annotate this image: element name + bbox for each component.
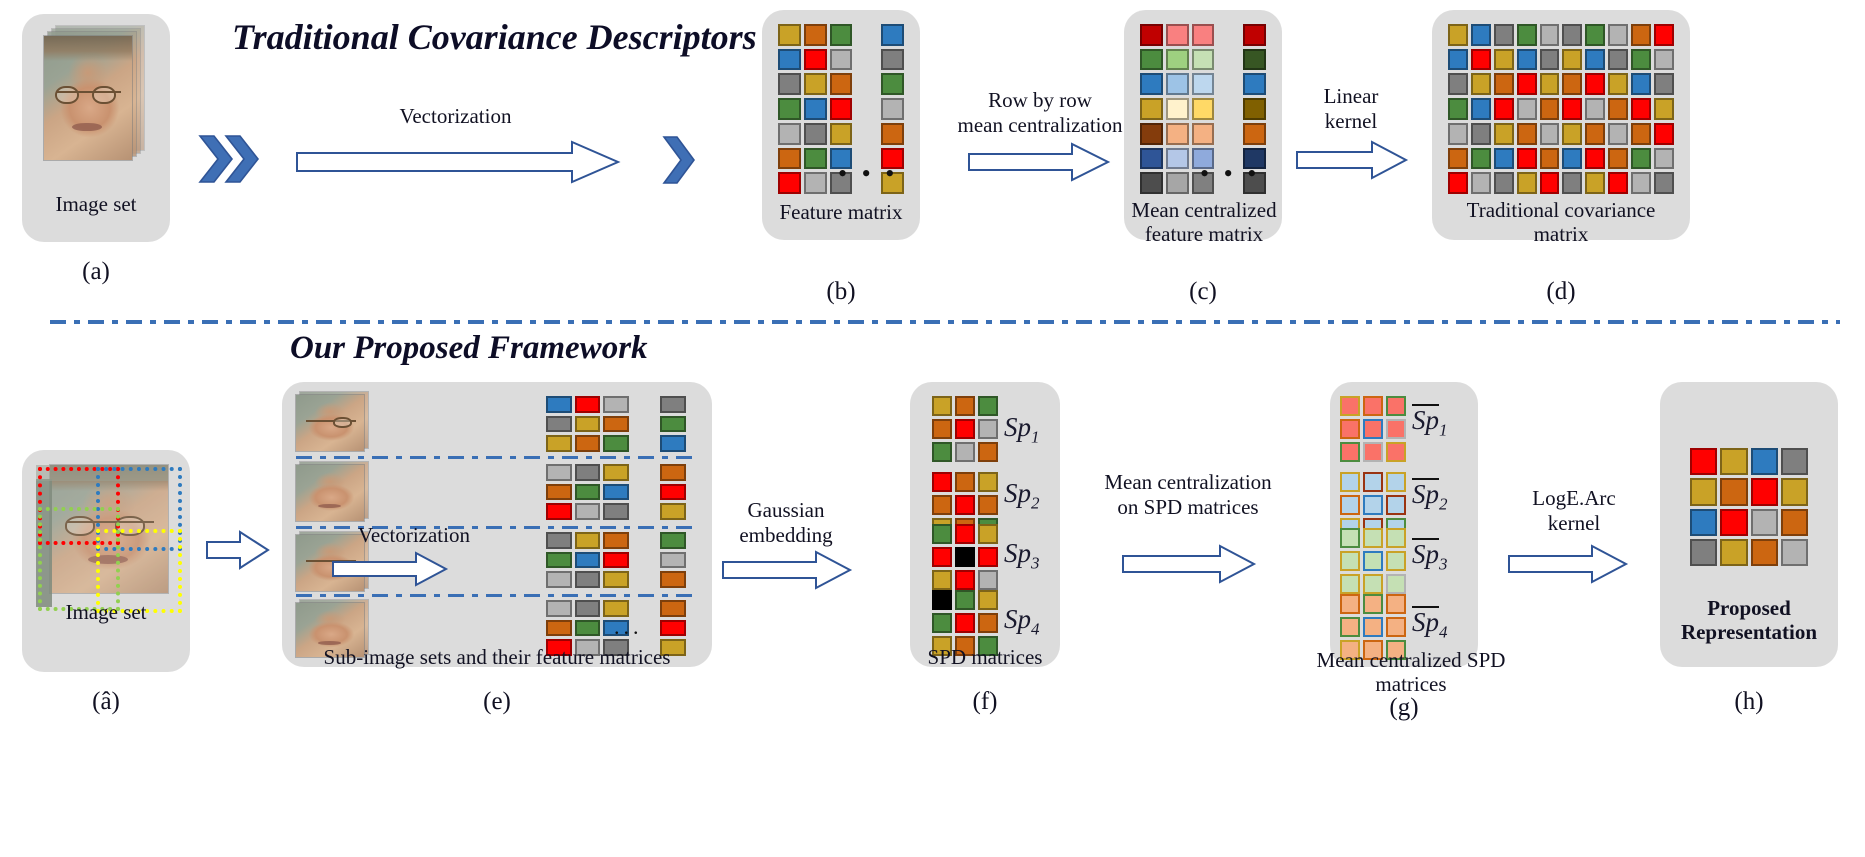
matrix-cell — [1654, 98, 1674, 120]
panel-d-caption-line1: Traditional covariance — [1467, 198, 1656, 222]
panel-a-hat-caption: Image set — [22, 600, 190, 625]
matrix-cell — [955, 524, 975, 544]
matrix-cell — [1494, 123, 1514, 145]
matrix-cell — [1585, 98, 1605, 120]
matrix-cell — [778, 49, 801, 71]
block-arrow-right-centralize — [968, 142, 1110, 182]
spd-label-sub-2: 2 — [1031, 493, 1040, 512]
matrix-cell — [778, 148, 801, 170]
face-image-stack-a — [44, 26, 150, 162]
matrix-cell — [660, 503, 686, 520]
matrix-cell — [1386, 419, 1406, 439]
vectorization-label-bottom: Vectorization — [334, 523, 494, 548]
matrix-cell — [603, 484, 629, 501]
feature-matrix-ellipsis: • • • — [838, 161, 898, 187]
matrix-cell — [932, 590, 952, 610]
matrix-cell — [1517, 49, 1537, 71]
mc-spd-label-sub-2: 2 — [1439, 494, 1448, 513]
matrix-cell — [1140, 49, 1163, 71]
matrix-cell — [1471, 49, 1491, 71]
matrix-cell — [575, 552, 601, 569]
matrix-cell — [1517, 98, 1537, 120]
grid-gap — [632, 552, 658, 569]
matrix-cell — [1140, 148, 1163, 170]
spd-label-sub-3: 3 — [1031, 553, 1040, 572]
matrix-cell — [1448, 98, 1468, 120]
matrix-cell — [1340, 551, 1360, 571]
matrix-cell — [1654, 123, 1674, 145]
matrix-cell — [546, 416, 572, 433]
matrix-cell — [1140, 24, 1163, 46]
panel-a-hat-sublabel: (â) — [22, 688, 190, 716]
matrix-cell — [830, 49, 853, 71]
matrix-cell — [1192, 73, 1215, 95]
matrix-cell — [603, 532, 629, 549]
matrix-cell — [1781, 448, 1808, 475]
matrix-cell — [978, 396, 998, 416]
matrix-cell — [881, 123, 904, 145]
matrix-cell — [1363, 396, 1383, 416]
block-arrow-right-vectorization — [296, 140, 620, 184]
block-arrow-right-gaussian — [722, 550, 852, 590]
matrix-cell — [1690, 448, 1717, 475]
matrix-cell — [1340, 442, 1360, 462]
matrix-cell — [881, 24, 904, 46]
matrix-cell — [1540, 172, 1560, 194]
spd-matrix-4-label: Sp4 — [1004, 604, 1040, 639]
matrix-cell — [1781, 539, 1808, 566]
panel-b-caption: Feature matrix — [755, 200, 927, 225]
top-section-title: Traditional Covariance Descriptors — [232, 16, 757, 58]
matrix-cell — [1140, 123, 1163, 145]
panel-d-caption: Traditional covariance matrix — [1420, 198, 1702, 246]
matrix-cell — [575, 532, 601, 549]
mc-spd-label-text-4: Sp — [1412, 606, 1439, 636]
mean-centralization-spd-line1: Mean centralization — [1104, 470, 1271, 494]
matrix-cell — [603, 571, 629, 588]
matrix-cell — [1363, 442, 1383, 462]
matrix-cell — [932, 495, 952, 515]
matrix-cell — [1585, 172, 1605, 194]
matrix-cell — [1386, 528, 1406, 548]
block-arrow-right-mean-centralization — [1122, 544, 1256, 584]
matrix-cell — [978, 547, 998, 567]
matrix-cell — [932, 613, 952, 633]
matrix-cell — [1363, 528, 1383, 548]
panel-f-sublabel: (f) — [910, 688, 1060, 716]
linear-kernel-line2: kernel — [1325, 109, 1377, 133]
matrix-cell — [1585, 123, 1605, 145]
matrix-cell — [1631, 24, 1651, 46]
matrix-cell — [778, 172, 801, 194]
mc-spd-label-text-2: Sp — [1412, 478, 1439, 508]
matrix-cell — [1494, 73, 1514, 95]
matrix-cell — [955, 613, 975, 633]
loge-arc-line1: LogE.Arc — [1532, 486, 1615, 510]
matrix-cell — [1631, 98, 1651, 120]
panel-c-sublabel: (c) — [1124, 278, 1282, 306]
matrix-cell — [881, 98, 904, 120]
matrix-cell — [1517, 73, 1537, 95]
matrix-cell — [1140, 98, 1163, 120]
matrix-cell — [1494, 49, 1514, 71]
matrix-cell — [1386, 396, 1406, 416]
matrix-cell — [1562, 148, 1582, 170]
spd-label-sub-1: 1 — [1031, 427, 1040, 446]
matrix-cell — [881, 49, 904, 71]
matrix-cell — [660, 435, 686, 452]
panel-d-sublabel: (d) — [1432, 278, 1690, 306]
matrix-cell — [932, 419, 952, 439]
spd-label-sub-4: 4 — [1031, 619, 1040, 638]
vectorization-label-top: Vectorization — [348, 104, 563, 129]
matrix-cell — [1448, 172, 1468, 194]
grid-gap — [632, 396, 658, 413]
block-arrow-right-linear-kernel — [1296, 140, 1408, 180]
grid-gap — [632, 464, 658, 481]
grid-gap — [632, 503, 658, 520]
matrix-cell — [978, 419, 998, 439]
matrix-cell — [1471, 123, 1491, 145]
matrix-cell — [603, 503, 629, 520]
matrix-cell — [1471, 24, 1491, 46]
matrix-cell — [955, 547, 975, 567]
matrix-cell — [1690, 509, 1717, 536]
linear-kernel-label: Linear kernel — [1292, 84, 1410, 134]
matrix-cell — [1631, 73, 1651, 95]
matrix-cell — [660, 571, 686, 588]
spd-matrix-1-label: Sp1 — [1004, 412, 1040, 447]
matrix-cell — [1562, 172, 1582, 194]
matrix-cell — [660, 532, 686, 549]
matrix-cell — [1386, 574, 1406, 594]
matrix-cell — [1340, 495, 1360, 515]
matrix-cell — [1386, 442, 1406, 462]
matrix-cell — [1585, 24, 1605, 46]
matrix-cell — [932, 396, 952, 416]
panel-a-sublabel: (a) — [22, 258, 170, 286]
matrix-cell — [804, 49, 827, 71]
block-arrow-right-to-e — [206, 530, 270, 570]
matrix-cell — [1720, 509, 1747, 536]
matrix-cell — [1540, 98, 1560, 120]
matrix-cell — [546, 435, 572, 452]
matrix-cell — [1471, 73, 1491, 95]
spd-matrix-1 — [932, 396, 998, 462]
panel-g-caption: Mean centralized SPD matrices — [1286, 648, 1536, 696]
matrix-cell — [546, 464, 572, 481]
matrix-cell — [1192, 24, 1215, 46]
panel-b-sublabel: (b) — [762, 278, 920, 306]
matrix-cell — [575, 571, 601, 588]
matrix-cell — [1654, 49, 1674, 71]
matrix-cell — [1608, 24, 1628, 46]
mean-centralized-spd-matrix-1 — [1340, 396, 1406, 462]
matrix-cell — [1448, 73, 1468, 95]
matrix-cell — [1540, 73, 1560, 95]
matrix-cell — [546, 571, 572, 588]
grid-gap — [855, 98, 878, 120]
proposed-representation-grid — [1690, 448, 1808, 566]
matrix-cell — [1386, 617, 1406, 637]
matrix-cell — [955, 590, 975, 610]
matrix-cell — [1340, 472, 1360, 492]
panel-h-caption-line2: Representation — [1681, 620, 1817, 644]
grid-gap — [1217, 73, 1240, 95]
matrix-cell — [1517, 123, 1537, 145]
matrix-cell — [1654, 73, 1674, 95]
gaussian-embedding-line1: Gaussian — [748, 498, 825, 522]
matrix-cell — [1340, 419, 1360, 439]
gaussian-embedding-line2: embedding — [739, 523, 832, 547]
matrix-cell — [1340, 574, 1360, 594]
single-chevron-right-icon — [662, 134, 696, 186]
matrix-cell — [660, 396, 686, 413]
matrix-cell — [1363, 617, 1383, 637]
matrix-cell — [1631, 49, 1651, 71]
matrix-cell — [1720, 448, 1747, 475]
panel-g-sublabel: (g) — [1330, 694, 1478, 722]
panel-c-caption: Mean centralized feature matrix — [1108, 198, 1300, 246]
double-chevron-right-icon — [198, 132, 260, 186]
matrix-cell — [575, 435, 601, 452]
block-arrow-right-loge — [1508, 544, 1628, 584]
grid-gap — [1217, 24, 1240, 46]
panel-c-caption-line2: feature matrix — [1145, 222, 1263, 246]
matrix-cell — [1494, 98, 1514, 120]
matrix-cell — [778, 123, 801, 145]
traditional-covariance-matrix-grid — [1448, 24, 1674, 194]
matrix-cell — [1540, 123, 1560, 145]
matrix-cell — [932, 524, 952, 544]
panel-e-ellipsis: ... — [614, 616, 643, 638]
matrix-cell — [1654, 172, 1674, 194]
spd-label-text-4: Sp — [1004, 604, 1031, 634]
matrix-cell — [1243, 123, 1266, 145]
matrix-cell — [1751, 448, 1778, 475]
matrix-cell — [978, 524, 998, 544]
panel-e-sublabel: (e) — [282, 688, 712, 716]
panel-e-caption: Sub-image sets and their feature matrice… — [282, 645, 712, 670]
matrix-cell — [1166, 148, 1189, 170]
panel-h-caption: Proposed Representation — [1660, 596, 1838, 644]
loge-arc-kernel-label: LogE.Arc kernel — [1508, 486, 1640, 536]
matrix-cell — [1166, 172, 1189, 194]
matrix-cell — [660, 464, 686, 481]
matrix-cell — [1585, 73, 1605, 95]
matrix-cell — [660, 416, 686, 433]
matrix-cell — [575, 464, 601, 481]
matrix-cell — [1690, 539, 1717, 566]
matrix-cell — [1690, 478, 1717, 505]
matrix-cell — [575, 503, 601, 520]
grid-gap — [1217, 98, 1240, 120]
matrix-cell — [1608, 73, 1628, 95]
block-arrow-right-vectorization-bottom — [332, 552, 448, 586]
grid-gap — [632, 532, 658, 549]
matrix-cell — [1494, 24, 1514, 46]
spd-matrix-3-label: Sp3 — [1004, 538, 1040, 573]
matrix-cell — [1363, 594, 1383, 614]
grid-gap — [855, 123, 878, 145]
matrix-cell — [603, 464, 629, 481]
matrix-cell — [881, 73, 904, 95]
mc-spd-label-text-3: Sp — [1412, 538, 1439, 568]
matrix-cell — [955, 570, 975, 590]
matrix-cell — [978, 442, 998, 462]
panel-a-caption: Image set — [22, 192, 170, 217]
matrix-cell — [955, 396, 975, 416]
matrix-cell — [575, 484, 601, 501]
row-mean-centralization-label: Row by row mean centralization — [932, 88, 1148, 138]
matrix-cell — [1608, 123, 1628, 145]
matrix-cell — [546, 600, 572, 617]
matrix-cell — [1340, 594, 1360, 614]
spd-label-text-2: Sp — [1004, 478, 1031, 508]
matrix-cell — [1166, 24, 1189, 46]
grid-gap — [855, 73, 878, 95]
sub-image-thumb-1 — [296, 392, 372, 452]
matrix-cell — [1192, 98, 1215, 120]
matrix-cell — [978, 495, 998, 515]
matrix-cell — [978, 613, 998, 633]
panel-e-separator-1 — [296, 456, 696, 459]
matrix-cell — [546, 484, 572, 501]
matrix-cell — [660, 484, 686, 501]
matrix-cell — [804, 123, 827, 145]
grid-gap — [632, 416, 658, 433]
matrix-cell — [546, 620, 572, 637]
mc-spd-label-sub-1: 1 — [1439, 420, 1448, 439]
matrix-cell — [1340, 396, 1360, 416]
grid-gap — [632, 484, 658, 501]
matrix-cell — [978, 472, 998, 492]
matrix-cell — [1386, 551, 1406, 571]
matrix-cell — [1140, 73, 1163, 95]
matrix-cell — [1166, 49, 1189, 71]
mean-centralization-spd-line2: on SPD matrices — [1117, 495, 1258, 519]
matrix-cell — [1494, 148, 1514, 170]
matrix-cell — [1631, 172, 1651, 194]
matrix-cell — [1540, 148, 1560, 170]
matrix-cell — [1340, 528, 1360, 548]
matrix-cell — [1243, 49, 1266, 71]
matrix-cell — [1386, 472, 1406, 492]
matrix-cell — [1608, 98, 1628, 120]
loge-arc-line2: kernel — [1548, 511, 1600, 535]
matrix-cell — [830, 24, 853, 46]
mean-centralized-ellipsis: • • • — [1200, 161, 1260, 187]
matrix-cell — [955, 495, 975, 515]
sub-feature-matrix-3 — [546, 532, 686, 588]
mean-centralized-spd-matrix-3 — [1340, 528, 1406, 594]
matrix-cell — [1781, 478, 1808, 505]
matrix-cell — [1363, 419, 1383, 439]
matrix-cell — [1166, 123, 1189, 145]
matrix-cell — [1517, 172, 1537, 194]
matrix-cell — [1608, 148, 1628, 170]
matrix-cell — [1562, 49, 1582, 71]
section-divider — [50, 320, 1840, 324]
matrix-cell — [1720, 478, 1747, 505]
mc-spd-matrix-1-label: Sp1 — [1412, 404, 1448, 440]
matrix-cell — [778, 98, 801, 120]
matrix-cell — [1140, 172, 1163, 194]
matrix-cell — [1720, 539, 1747, 566]
matrix-cell — [603, 416, 629, 433]
matrix-cell — [1363, 551, 1383, 571]
matrix-cell — [1781, 509, 1808, 536]
matrix-cell — [1243, 24, 1266, 46]
matrix-cell — [1363, 472, 1383, 492]
mc-spd-matrix-2-label: Sp2 — [1412, 478, 1448, 514]
spd-label-text-3: Sp — [1004, 538, 1031, 568]
matrix-cell — [1363, 495, 1383, 515]
face-cube-image-a-hat — [36, 465, 184, 617]
matrix-cell — [830, 98, 853, 120]
matrix-cell — [778, 73, 801, 95]
matrix-cell — [778, 24, 801, 46]
matrix-cell — [1540, 24, 1560, 46]
matrix-cell — [603, 396, 629, 413]
matrix-cell — [932, 547, 952, 567]
matrix-cell — [660, 600, 686, 617]
matrix-cell — [1751, 539, 1778, 566]
grid-gap — [632, 435, 658, 452]
grid-gap — [855, 49, 878, 71]
matrix-cell — [1608, 172, 1628, 194]
matrix-cell — [804, 73, 827, 95]
matrix-cell — [575, 416, 601, 433]
matrix-cell — [1192, 123, 1215, 145]
matrix-cell — [1243, 73, 1266, 95]
matrix-cell — [1631, 148, 1651, 170]
matrix-cell — [1608, 49, 1628, 71]
matrix-cell — [1471, 172, 1491, 194]
matrix-cell — [1540, 49, 1560, 71]
matrix-cell — [1517, 148, 1537, 170]
matrix-cell — [955, 442, 975, 462]
matrix-cell — [1494, 172, 1514, 194]
mc-spd-matrix-4-label: Sp4 — [1412, 606, 1448, 642]
panel-h-caption-line1: Proposed — [1707, 596, 1791, 620]
linear-kernel-line1: Linear — [1324, 84, 1379, 108]
grid-gap — [1217, 123, 1240, 145]
matrix-cell — [1585, 49, 1605, 71]
matrix-cell — [1562, 73, 1582, 95]
grid-gap — [632, 571, 658, 588]
matrix-cell — [660, 620, 686, 637]
panel-g-caption-line2: matrices — [1375, 672, 1446, 696]
mc-spd-label-sub-3: 3 — [1439, 554, 1448, 573]
panel-f-caption: SPD matrices — [905, 645, 1065, 670]
matrix-cell — [978, 590, 998, 610]
spd-matrix-2-label: Sp2 — [1004, 478, 1040, 513]
grid-gap — [855, 24, 878, 46]
matrix-cell — [1166, 73, 1189, 95]
panel-c-caption-line1: Mean centralized — [1131, 198, 1276, 222]
mc-spd-label-sub-4: 4 — [1439, 622, 1448, 641]
matrix-cell — [1562, 24, 1582, 46]
matrix-cell — [804, 98, 827, 120]
matrix-cell — [660, 552, 686, 569]
matrix-cell — [932, 472, 952, 492]
matrix-cell — [955, 472, 975, 492]
matrix-cell — [955, 419, 975, 439]
matrix-cell — [603, 552, 629, 569]
matrix-cell — [932, 570, 952, 590]
matrix-cell — [830, 73, 853, 95]
